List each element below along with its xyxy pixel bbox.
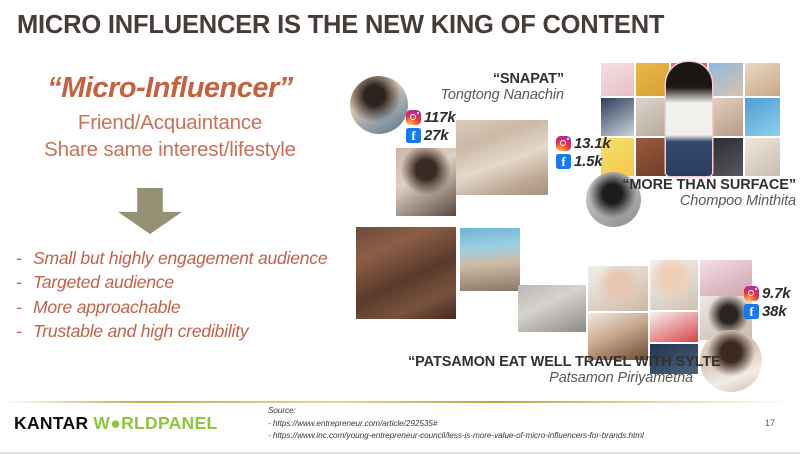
- collage-photo: [456, 120, 548, 195]
- influencer-cutout-photo: [666, 62, 712, 176]
- collage-photo: [650, 312, 698, 342]
- influencer-handle: “MORE THAN SURFACE”: [596, 177, 796, 193]
- page-number: 17: [765, 418, 775, 428]
- kantar-worldpanel-logo: KANTAR W●RLDPANEL: [14, 413, 217, 434]
- collage-photo: [709, 138, 743, 176]
- collage-photo: [745, 98, 780, 136]
- instagram-follower-count: 117k: [424, 110, 455, 125]
- influencer-caption-snapat: “SNAPAT” Tongtong Nanachin: [404, 71, 564, 103]
- collage-photo: [636, 138, 669, 176]
- facebook-stat: 1.5k: [556, 154, 611, 169]
- collage-photo: [588, 313, 648, 360]
- facebook-follower-count: 38k: [762, 304, 786, 319]
- facebook-icon: [744, 304, 759, 319]
- collage-photo: [636, 98, 669, 136]
- collage-photo: [745, 63, 780, 96]
- influencer-caption-more-than-surface: “MORE THAN SURFACE” Chompoo Minthita: [596, 177, 796, 209]
- subline-interest: Share same interest/lifestyle: [0, 137, 340, 163]
- collage-photo: [650, 260, 698, 310]
- influencer-handle: “PATSAMON EAT WELL TRAVEL WITH SYLTE”: [408, 354, 693, 370]
- instagram-icon: [406, 110, 421, 125]
- collage-photo: [601, 98, 634, 136]
- logo-worldpanel-text: W●RLDPANEL: [93, 413, 217, 434]
- instagram-stat: 117k: [406, 110, 455, 125]
- list-item: - Targeted audience: [12, 271, 342, 294]
- footer-divider: [0, 401, 800, 403]
- avatar: [350, 76, 408, 134]
- facebook-icon: [406, 128, 421, 143]
- micro-influencer-subtext: Friend/Acquaintance Share same interest/…: [0, 110, 340, 162]
- influencer-name: Patsamon Piriyametha: [408, 370, 693, 386]
- micro-influencer-headline: “Micro-Influencer”: [0, 72, 340, 105]
- facebook-follower-count: 1.5k: [574, 154, 602, 169]
- left-text-panel: “Micro-Influencer” Friend/Acquaintance S…: [0, 72, 340, 163]
- bullet-marker: -: [12, 271, 33, 294]
- subline-friend: Friend/Acquaintance: [0, 110, 340, 136]
- social-stats-snapat: 117k 27k: [406, 110, 455, 146]
- collage-photo: [460, 228, 520, 291]
- collage-photo: [636, 63, 669, 96]
- slide-canvas: MICRO INFLUENCER IS THE NEW KING OF CONT…: [0, 0, 800, 454]
- list-item-label: Small but highly engagement audience: [33, 247, 342, 270]
- social-stats-patsamon: 9.7k 38k: [744, 286, 790, 322]
- influencer-name: Chompoo Minthita: [596, 193, 796, 209]
- source-citation: Source: - https://www.entrepreneur.com/a…: [268, 405, 644, 443]
- influencer-caption-patsamon: “PATSAMON EAT WELL TRAVEL WITH SYLTE” Pa…: [408, 354, 693, 386]
- list-item-label: More approachable: [33, 296, 342, 319]
- source-link-1[interactable]: - https://www.entrepreneur.com/article/2…: [268, 418, 644, 431]
- instagram-icon: [556, 136, 571, 151]
- bullet-marker: -: [12, 296, 33, 319]
- list-item: - Small but highly engagement audience: [12, 247, 342, 270]
- source-link-2[interactable]: - https://www.inc.com/young-entrepreneur…: [268, 430, 644, 443]
- bullet-marker: -: [12, 320, 33, 343]
- source-label: Source:: [268, 405, 644, 418]
- list-item-label: Trustable and high credibility: [33, 320, 342, 343]
- facebook-icon: [556, 154, 571, 169]
- facebook-follower-count: 27k: [424, 128, 448, 143]
- list-item: - Trustable and high credibility: [12, 320, 342, 343]
- collage-photo: [709, 63, 743, 96]
- collage-photo: [601, 63, 634, 96]
- down-arrow-icon: [118, 188, 182, 234]
- instagram-stat: 13.1k: [556, 136, 611, 151]
- collage-photo: [709, 98, 743, 136]
- list-item: - More approachable: [12, 296, 342, 319]
- facebook-stat: 27k: [406, 128, 455, 143]
- list-item-label: Targeted audience: [33, 271, 342, 294]
- collage-photo: [356, 227, 456, 319]
- down-arrow-shape: [118, 188, 182, 234]
- influencer-name: Tongtong Nanachin: [404, 87, 564, 103]
- bullet-marker: -: [12, 247, 33, 270]
- collage-photo: [745, 138, 780, 176]
- instagram-icon: [744, 286, 759, 301]
- instagram-stat: 9.7k: [744, 286, 790, 301]
- collage-photo: [396, 148, 456, 216]
- logo-kantar-text: KANTAR: [14, 413, 88, 434]
- page-title: MICRO INFLUENCER IS THE NEW KING OF CONT…: [17, 11, 664, 40]
- facebook-stat: 38k: [744, 304, 790, 319]
- instagram-follower-count: 13.1k: [574, 136, 611, 151]
- influencer-handle: “SNAPAT”: [404, 71, 564, 87]
- social-stats-more-than-surface: 13.1k 1.5k: [556, 136, 611, 172]
- benefit-bullet-list: - Small but highly engagement audience -…: [12, 247, 342, 344]
- collage-photo: [588, 266, 648, 311]
- collage-photo: [518, 285, 586, 332]
- instagram-follower-count: 9.7k: [762, 286, 790, 301]
